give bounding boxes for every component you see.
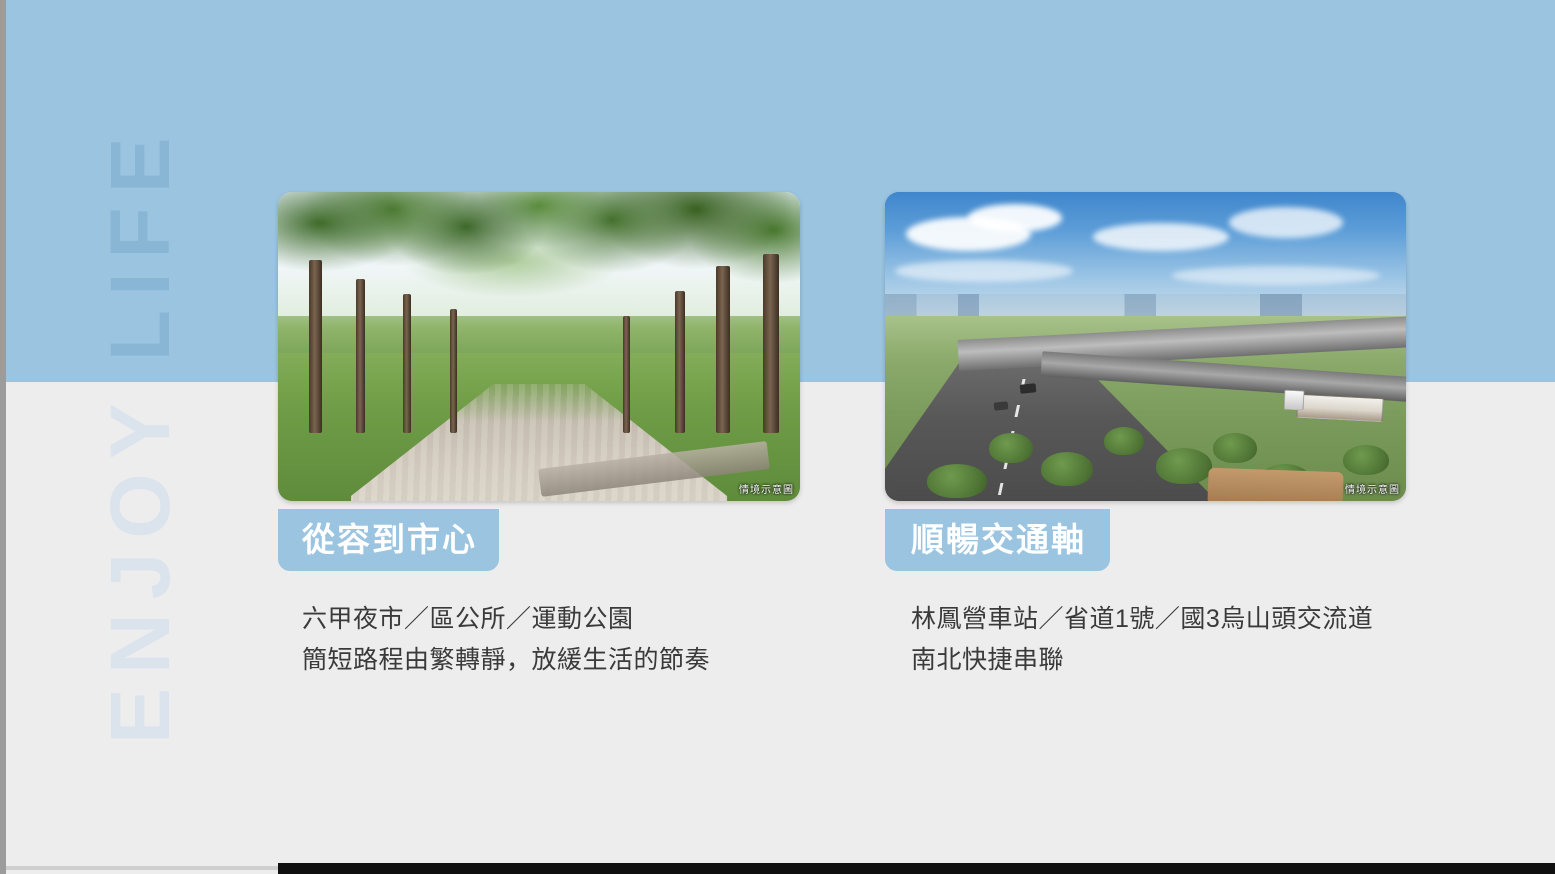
roadside-bush <box>989 433 1033 463</box>
cloud <box>1172 266 1380 285</box>
card-badge-park: 從容到市心 <box>278 509 499 571</box>
cloud <box>968 204 1062 232</box>
tree-trunk <box>623 316 630 433</box>
left-blue-sidebar <box>6 0 281 382</box>
truck-cab <box>1283 389 1304 410</box>
card-photo-park: 情境示意圖 <box>278 192 800 501</box>
roadside-bush <box>1104 427 1144 455</box>
truck-trailer <box>1296 394 1383 422</box>
bare-earth-patch <box>1207 468 1344 501</box>
feature-card-traffic: 情境示意圖 順暢交通軸 林鳳營車站／省道1號／國3烏山頭交流道 南北快捷串聯 <box>885 192 1406 680</box>
cloud <box>895 260 1072 282</box>
roadside-bush <box>1213 433 1257 463</box>
roadside-bush <box>927 464 987 498</box>
bottom-dark-bar <box>278 863 1555 874</box>
tree-trunk <box>403 294 411 433</box>
photo-watermark: 情境示意圖 <box>739 481 794 496</box>
card-description-park: 六甲夜市／區公所／運動公園 簡短路程由繁轉靜，放緩生活的節奏 <box>278 599 800 680</box>
left-edge-strip <box>0 0 6 874</box>
bottom-bar-left-segment <box>6 866 278 870</box>
roadside-bush <box>1343 445 1389 475</box>
car <box>994 401 1009 410</box>
tree-trunk <box>763 254 779 433</box>
feature-card-park: 情境示意圖 從容到市心 六甲夜市／區公所／運動公園 簡短路程由繁轉靜，放緩生活的… <box>278 192 800 680</box>
wordmark-enjoy: ENJOY <box>93 389 187 744</box>
tree-trunk <box>450 309 457 433</box>
tree-trunk <box>309 260 322 433</box>
card-photo-highway: 情境示意圖 <box>885 192 1406 501</box>
tree-trunk <box>675 291 685 433</box>
tree-trunk <box>356 279 365 434</box>
roadside-bush <box>1041 452 1093 486</box>
roadside-bush <box>1156 448 1212 484</box>
tree-trunk <box>716 266 730 433</box>
slide-canvas: ENJOYLIFE 情境示意圖 從容到市心 六甲夜市／區公所／運動公園 簡短路程… <box>0 0 1555 874</box>
car <box>1020 383 1037 394</box>
cloud <box>1093 223 1228 251</box>
photo-watermark: 情境示意圖 <box>1345 481 1400 496</box>
card-description-traffic: 林鳳營車站／省道1號／國3烏山頭交流道 南北快捷串聯 <box>885 599 1406 680</box>
card-badge-traffic: 順暢交通軸 <box>885 509 1110 571</box>
